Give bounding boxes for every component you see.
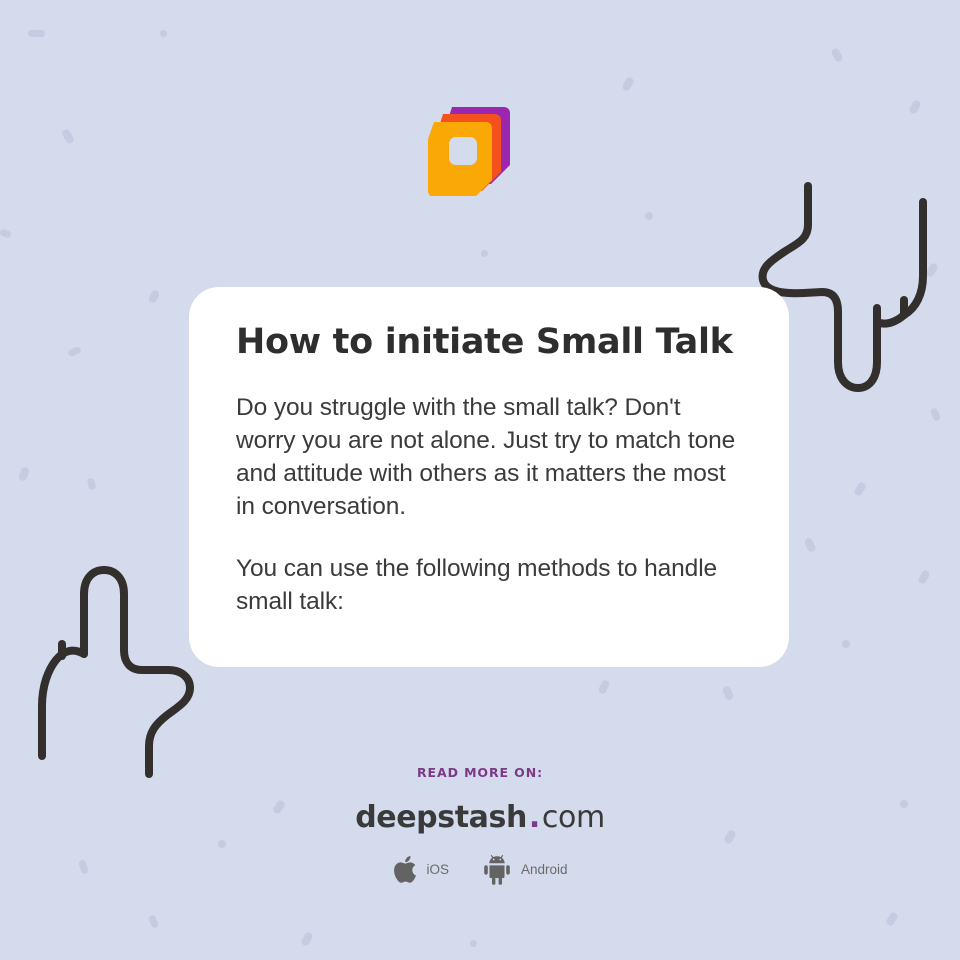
confetti-speck: [28, 30, 45, 38]
confetti-speck: [147, 289, 160, 304]
confetti-speck: [917, 569, 931, 585]
read-more-label: READ MORE ON:: [0, 765, 960, 780]
confetti-speck: [481, 250, 488, 257]
confetti-speck: [803, 537, 816, 553]
confetti-speck: [160, 30, 167, 37]
confetti-speck: [87, 477, 97, 490]
confetti-speck: [18, 466, 31, 482]
page-title: How to initiate Small Talk: [236, 322, 743, 363]
confetti-speck: [148, 914, 160, 929]
footer: READ MORE ON: deepstash.com iOS: [0, 765, 960, 885]
deepstash-share-card: How to initiate Small Talk Do you strugg…: [0, 0, 960, 960]
wordmark-brand-name: deepstash: [355, 800, 527, 835]
confetti-speck: [885, 911, 899, 927]
wordmark-dot: .: [527, 800, 542, 835]
confetti-speck: [721, 685, 734, 701]
confetti-speck: [930, 407, 941, 422]
confetti-speck: [853, 481, 867, 497]
ios-store-badge[interactable]: iOS: [392, 854, 449, 885]
confetti-speck: [470, 940, 477, 947]
confetti-speck: [67, 346, 82, 357]
android-icon: [481, 854, 513, 885]
card-paragraph: Do you struggle with the small talk? Don…: [236, 391, 743, 523]
confetti-speck: [842, 640, 850, 648]
wordmark-tld: com: [542, 800, 605, 835]
idea-card: How to initiate Small Talk Do you strugg…: [189, 287, 789, 667]
store-badges: iOS: [0, 854, 960, 885]
confetti-speck: [300, 931, 314, 947]
confetti-speck: [597, 679, 610, 695]
confetti-speck: [925, 262, 939, 278]
site-wordmark[interactable]: deepstash.com: [0, 803, 960, 833]
android-store-label: Android: [521, 862, 568, 877]
apple-icon: [392, 854, 418, 885]
deepstash-logo-icon: [428, 104, 520, 196]
confetti-speck: [645, 212, 653, 220]
confetti-speck: [621, 76, 635, 92]
android-store-badge[interactable]: Android: [481, 854, 568, 885]
confetti-speck: [908, 99, 922, 115]
confetti-speck: [61, 128, 75, 145]
pointing-up-hand-icon: [18, 556, 218, 788]
card-paragraph: You can use the following methods to han…: [236, 552, 743, 618]
confetti-speck: [830, 47, 844, 63]
confetti-speck: [0, 228, 12, 238]
ios-store-label: iOS: [426, 862, 449, 877]
